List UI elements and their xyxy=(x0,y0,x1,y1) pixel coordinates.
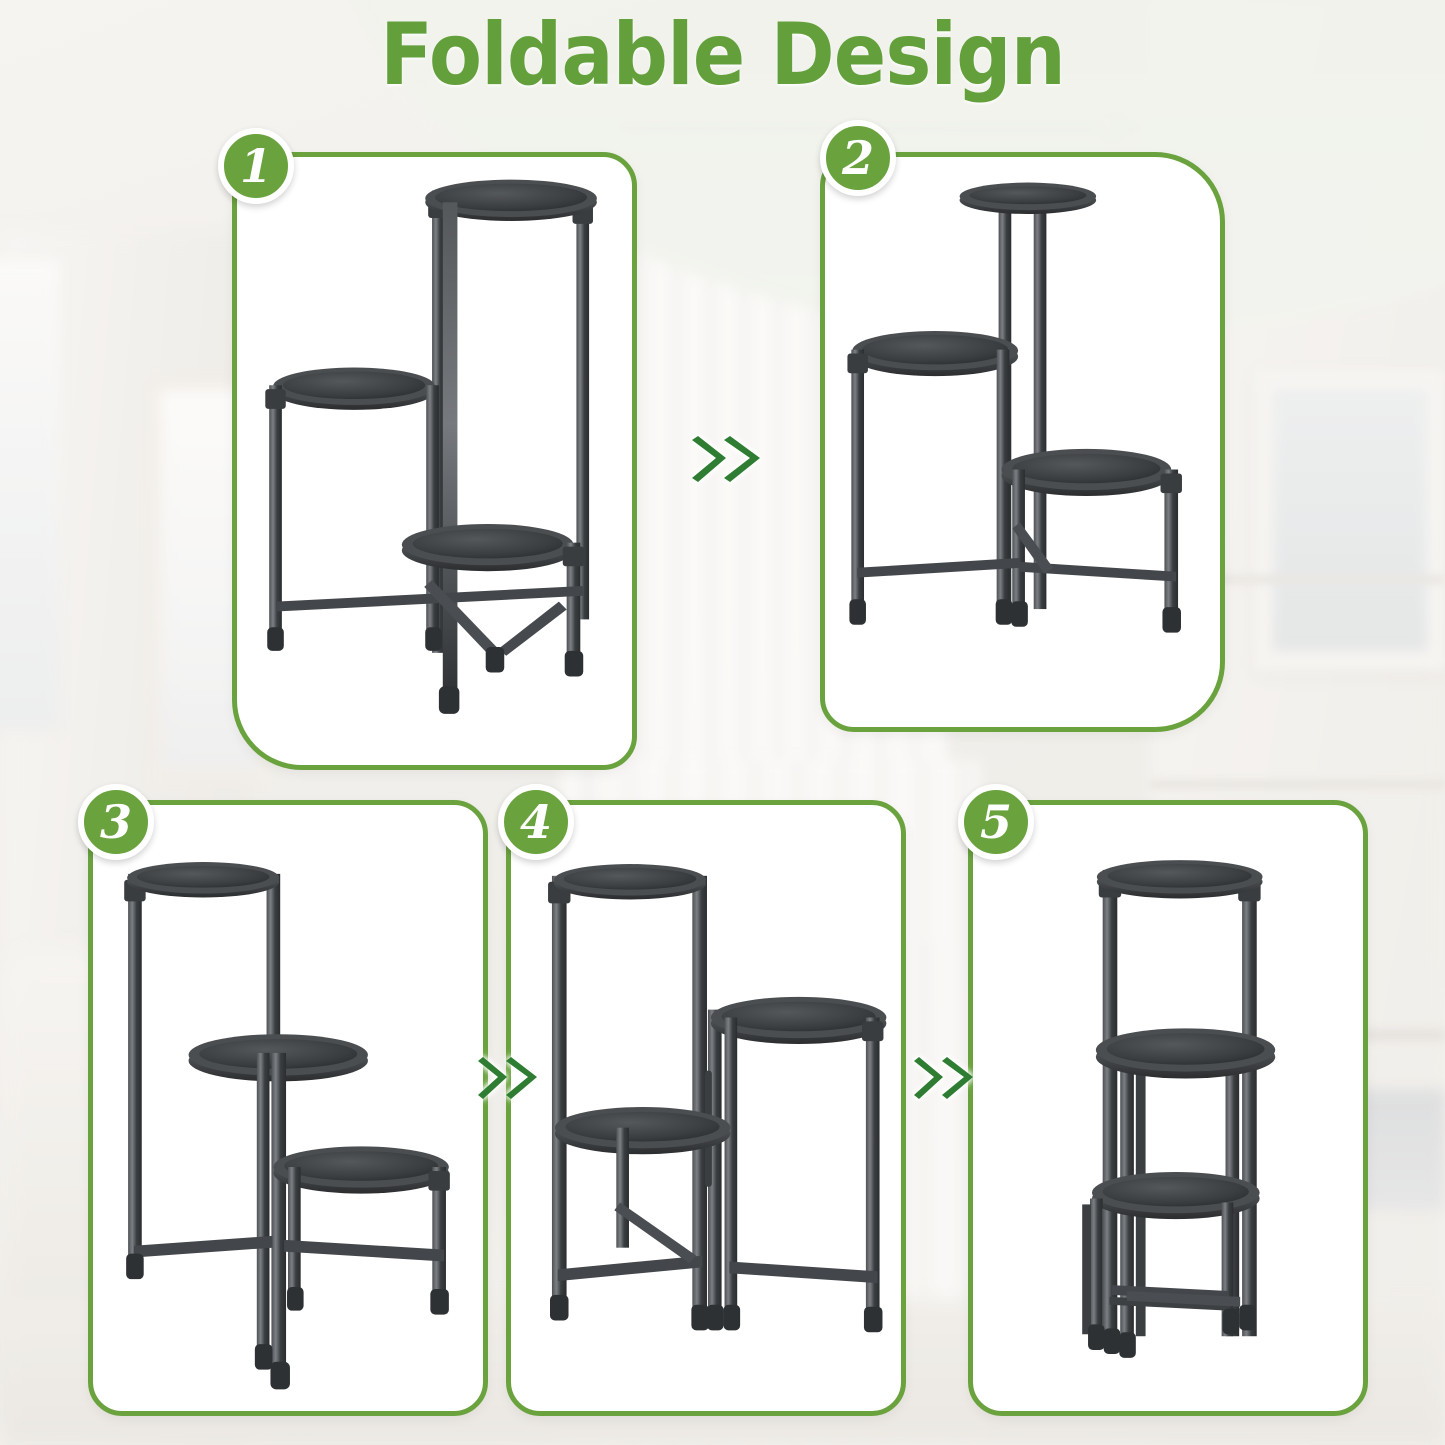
step-panel-3 xyxy=(88,800,488,1416)
page-title: Foldable Design xyxy=(72,12,1373,98)
step-arrow-3-to-4 xyxy=(476,1055,540,1103)
step-badge-3: 3 xyxy=(78,784,154,860)
step-badge-1: 1 xyxy=(218,128,294,204)
plant-stand-illustration-step-3 xyxy=(93,805,483,1411)
step-panel-5 xyxy=(968,800,1368,1416)
double-chevron-right-icon xyxy=(690,434,764,486)
plant-stand-illustration-step-1 xyxy=(237,157,632,765)
plant-stand-illustration-step-2 xyxy=(825,157,1220,727)
double-chevron-right-icon xyxy=(476,1055,540,1103)
step-panel-2 xyxy=(820,152,1225,732)
step-badge-5: 5 xyxy=(958,784,1034,860)
step-panel-1 xyxy=(232,152,637,770)
plant-stand-illustration-step-4 xyxy=(511,805,901,1411)
step-badge-4-label: 4 xyxy=(520,799,552,845)
infographic-canvas: Foldable Design xyxy=(0,0,1445,1445)
step-badge-1-label: 1 xyxy=(240,143,272,189)
step-badge-2-label: 2 xyxy=(842,135,874,181)
step-arrow-4-to-5 xyxy=(912,1055,976,1103)
plant-stand-illustration-step-5 xyxy=(973,805,1363,1411)
double-chevron-right-icon xyxy=(912,1055,976,1103)
step-badge-3-label: 3 xyxy=(100,799,132,845)
step-panel-4 xyxy=(506,800,906,1416)
step-badge-2: 2 xyxy=(820,120,896,196)
step-arrow-1-to-2 xyxy=(690,434,764,486)
step-badge-5-label: 5 xyxy=(980,799,1012,845)
step-badge-4: 4 xyxy=(498,784,574,860)
